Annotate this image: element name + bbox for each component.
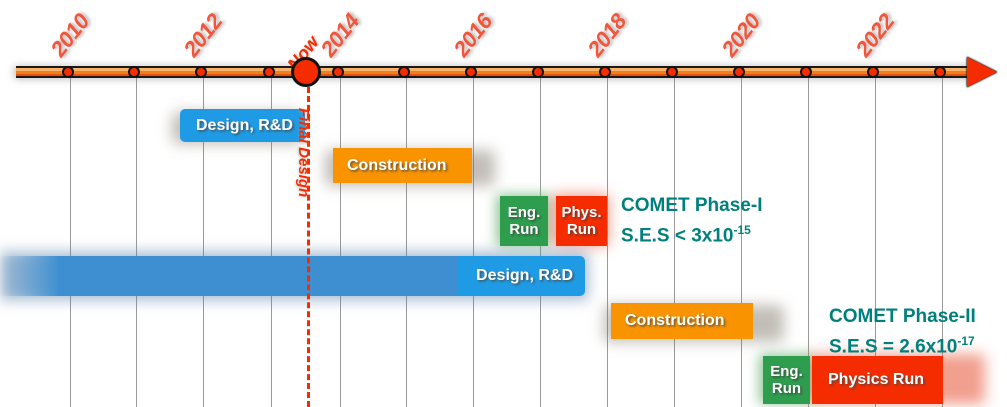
annotation-phase2: COMET Phase-II S.E.S = 2.6x10-17 bbox=[829, 305, 976, 359]
bar-phase2-design-label: Design, R&D bbox=[476, 267, 573, 285]
box-phase1-eng-run-line2: Run bbox=[509, 221, 538, 238]
grid-line bbox=[406, 78, 407, 407]
bar-phase2-physics-run[interactable]: Physics Run bbox=[812, 356, 943, 404]
annotation-phase1-ses: S.E.S < 3x10-15 bbox=[621, 218, 762, 248]
axis-tick-dot[interactable] bbox=[934, 66, 946, 78]
annotation-phase1: COMET Phase-I S.E.S < 3x10-15 bbox=[621, 194, 762, 248]
grid-line bbox=[340, 78, 341, 407]
annotation-phase2-ses-exponent: -17 bbox=[957, 334, 974, 348]
box-phase1-phys-run[interactable]: Phys. Run bbox=[556, 196, 607, 246]
bar-phase1-construction-label: Construction bbox=[347, 157, 447, 175]
annotation-phase1-ses-exponent: -15 bbox=[734, 223, 751, 237]
axis-bar bbox=[16, 66, 978, 78]
axis-year-label: 2014 bbox=[316, 9, 365, 62]
p2-design-fade-left bbox=[0, 256, 60, 296]
now-marker-dot[interactable] bbox=[291, 57, 321, 87]
box-phase2-eng-run-line2: Run bbox=[772, 380, 801, 397]
timeline-diagram: Design, R&D Construction Eng. Run Phys. … bbox=[0, 0, 1007, 407]
axis-tick-dot[interactable] bbox=[195, 66, 207, 78]
axis-year-label: 2020 bbox=[717, 9, 766, 62]
annotation-phase2-ses: S.E.S = 2.6x10-17 bbox=[829, 329, 976, 359]
axis-tick-dot[interactable] bbox=[398, 66, 410, 78]
axis-tick-dot[interactable] bbox=[867, 66, 879, 78]
axis-tick-dot[interactable] bbox=[733, 66, 745, 78]
axis-tick-dot[interactable] bbox=[800, 66, 812, 78]
bar-phase2-physics-run-label: Physics Run bbox=[828, 371, 924, 389]
axis-year-label: 2010 bbox=[46, 9, 95, 62]
bar-phase1-design-label: Design, R&D bbox=[196, 117, 293, 135]
axis-tick-dot[interactable] bbox=[332, 66, 344, 78]
axis-tick-dot[interactable] bbox=[263, 66, 275, 78]
annotation-phase1-title: COMET Phase-I bbox=[621, 194, 762, 218]
box-phase1-phys-run-line1: Phys. bbox=[561, 204, 601, 221]
axis-tick-dot[interactable] bbox=[532, 66, 544, 78]
axis-tick-dot[interactable] bbox=[128, 66, 140, 78]
annotation-phase2-ses-prefix: S.E.S = 2.6x10 bbox=[829, 336, 957, 357]
box-phase2-eng-run[interactable]: Eng. Run bbox=[763, 356, 810, 404]
final-design-label: Final Design bbox=[295, 108, 312, 197]
axis-year-label: 2016 bbox=[449, 9, 498, 62]
grid-line bbox=[136, 78, 137, 407]
box-phase1-eng-run[interactable]: Eng. Run bbox=[500, 196, 548, 246]
annotation-phase2-title: COMET Phase-II bbox=[829, 305, 976, 329]
box-phase2-eng-run-line1: Eng. bbox=[770, 363, 803, 380]
axis-tick-dot[interactable] bbox=[62, 66, 74, 78]
axis-tick-dot[interactable] bbox=[465, 66, 477, 78]
axis-tick-dot[interactable] bbox=[666, 66, 678, 78]
bar-phase2-design-head[interactable]: Design, R&D bbox=[458, 256, 585, 296]
axis-tick-dot[interactable] bbox=[599, 66, 611, 78]
bar-phase1-design[interactable]: Design, R&D bbox=[180, 109, 305, 142]
timeline-axis: 2010201220142016201820202022 Now bbox=[0, 0, 1007, 100]
box-phase1-phys-run-line2: Run bbox=[567, 221, 596, 238]
box-phase1-eng-run-line1: Eng. bbox=[508, 204, 541, 221]
annotation-phase1-ses-prefix: S.E.S < 3x10 bbox=[621, 225, 734, 246]
bar-phase2-construction[interactable]: Construction bbox=[611, 303, 753, 339]
axis-year-label: 2018 bbox=[583, 9, 632, 62]
grid-line bbox=[473, 78, 474, 407]
axis-year-label: 2022 bbox=[851, 9, 900, 62]
bar-phase2-construction-label: Construction bbox=[625, 312, 725, 330]
grid-line bbox=[70, 78, 71, 407]
axis-arrow-icon bbox=[967, 57, 997, 87]
bar-phase1-construction[interactable]: Construction bbox=[333, 148, 472, 183]
axis-year-label: 2012 bbox=[179, 9, 228, 62]
